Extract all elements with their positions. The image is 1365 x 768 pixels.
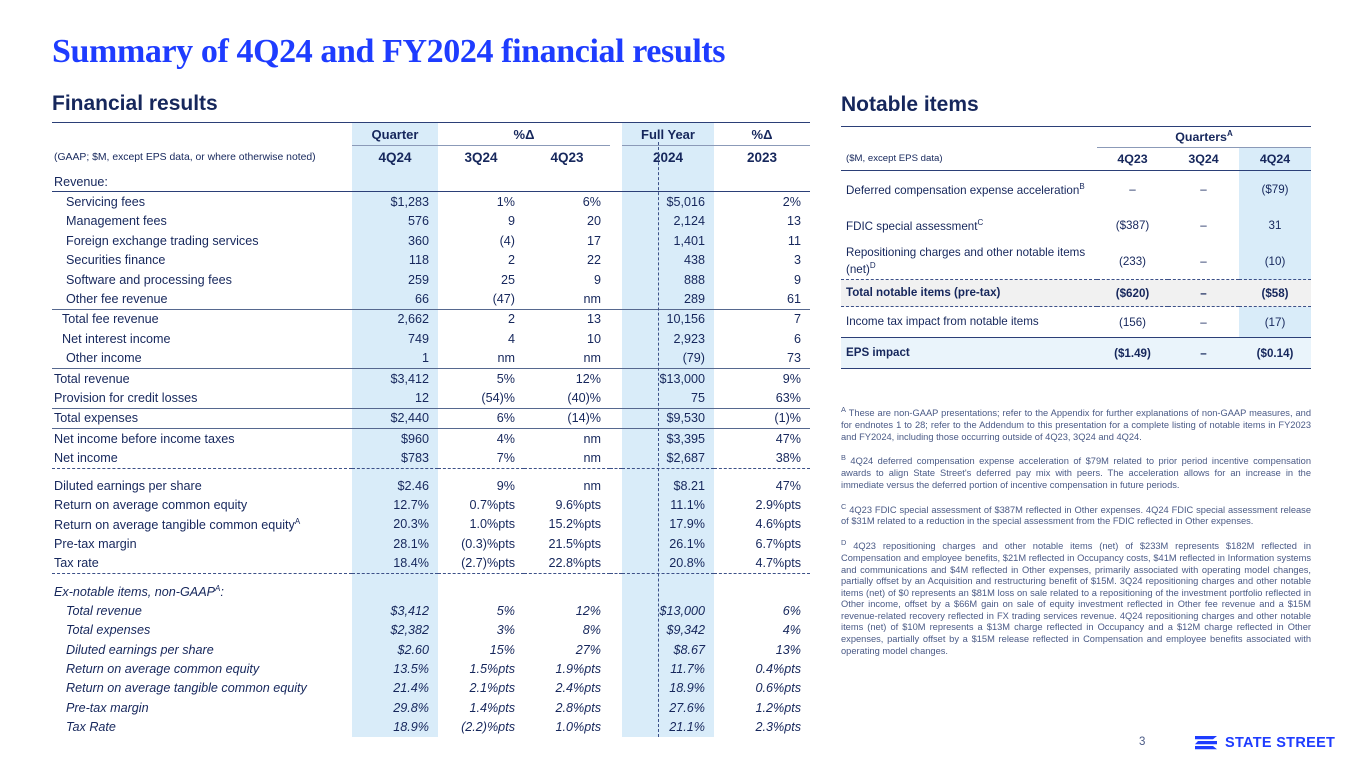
table-cell: 5% [438,601,524,620]
column-header-3Q24: 3Q24 [1168,148,1239,171]
table-row: Provision for credit losses12(54)%(40)%7… [52,388,810,408]
table-cell: – [1097,171,1168,208]
table-cell [714,169,810,192]
column-gap [610,718,622,737]
column-header-4Q24: 4Q24 [1239,148,1311,171]
table-row: Net income before income taxes$9604%nm$3… [52,429,810,449]
table-cell: 9% [714,368,810,388]
column-gap [610,553,622,573]
table-cell: ($1.49) [1097,338,1168,369]
row-label: Total revenue [52,601,352,620]
table-cell: 360 [352,231,438,250]
table-header-periods: ($M, except EPS data)4Q233Q244Q24 [841,148,1311,171]
table-cell: 888 [622,270,714,289]
table-row: Return on average common equity12.7%0.7%… [52,495,810,514]
table-cell: 26.1% [622,534,714,553]
table-cell: $8.21 [622,468,714,495]
table-cell: 576 [352,212,438,231]
row-label: Diluted earnings per share [52,468,352,495]
column-gap [610,515,622,534]
table-cell: 31 [1239,207,1311,243]
table-cell: (54)% [438,388,524,408]
table-row: Securities finance1182224383 [52,251,810,270]
table-cell: – [1168,207,1239,243]
footnote-marker: D [841,538,846,547]
group-header-delta-year: %Δ [714,123,810,146]
table-cell: 2% [714,192,810,212]
table-cell: 15.2%pts [524,515,610,534]
notable-items-table-wrap: QuartersA($M, except EPS data)4Q233Q244Q… [841,126,1311,369]
table-cell: 8% [524,621,610,640]
table-cell: 3% [438,621,524,640]
table-cell: 9.6%pts [524,495,610,514]
table-row: Diluted earnings per share$2.6015%27%$8.… [52,640,810,659]
row-label: Management fees [52,212,352,231]
table-cell: 22 [524,251,610,270]
table-cell: 1.0%pts [438,515,524,534]
column-gap [610,640,622,659]
table-cell: $2.60 [352,640,438,659]
table-cell: 9 [714,270,810,289]
footnote-marker: A [1227,129,1233,138]
table-cell: $13,000 [622,601,714,620]
table-cell: 27% [524,640,610,659]
table-cell: 75 [622,388,714,408]
group-header-quarter: Quarter [352,123,438,146]
row-label: Total fee revenue [52,309,352,329]
table-cell: 11.7% [622,659,714,678]
table-cell: 20 [524,212,610,231]
table-cell: 2 [438,309,524,329]
table-cell: 12% [524,368,610,388]
table-cell: 438 [622,251,714,270]
row-label: Securities finance [52,251,352,270]
footnote-marker: D [870,261,876,270]
column-gap [610,573,622,601]
table-row: Total expenses$2,3823%8%$9,3424% [52,621,810,640]
column-gap [610,192,622,212]
table-cell: 9% [438,468,524,495]
column-header-4Q23: 4Q23 [524,146,610,170]
table-cell: 21.5%pts [524,534,610,553]
column-gap [610,698,622,717]
column-gap [610,495,622,514]
table-cell: 20.8% [622,553,714,573]
table-cell [352,169,438,192]
table-cell: $2,382 [352,621,438,640]
table-cell: (17) [1239,307,1311,338]
table-cell: 13% [714,640,810,659]
table-cell: 10,156 [622,309,714,329]
table-cell [352,573,438,601]
table-cell: 12% [524,601,610,620]
table-cell: (79) [622,349,714,369]
table-cell: 28.1% [352,534,438,553]
table-cell: 20.3% [352,515,438,534]
row-label: Repositioning charges and other notable … [841,243,1097,280]
row-label: Other fee revenue [52,289,352,309]
financial-results-table-wrap: Quarter%ΔFull Year%Δ(GAAP; $M, except EP… [52,122,810,737]
column-gap [610,289,622,309]
table-cell: $9,342 [622,621,714,640]
table-row: Income tax impact from notable items(156… [841,307,1311,338]
table-row: Total fee revenue2,66221310,1567 [52,309,810,329]
footnote-marker: B [1079,182,1084,191]
table-cell: 17 [524,231,610,250]
table-cell: nm [438,349,524,369]
table-cell: 3 [714,251,810,270]
footnote-d: D 4Q23 repositioning charges and other n… [841,537,1311,657]
column-gap [610,349,622,369]
table-cell: 1.4%pts [438,698,524,717]
footnote-marker: C [977,218,983,227]
column-header-3Q24: 3Q24 [438,146,524,170]
table-row: Diluted earnings per share$2.469%nm$8.21… [52,468,810,495]
table-cell [438,169,524,192]
table-cell: (156) [1097,307,1168,338]
column-gap [610,679,622,698]
table-cell: $9,530 [622,408,714,428]
table-cell: (233) [1097,243,1168,280]
table-cell: 2.9%pts [714,495,810,514]
table-units-note: ($M, except EPS data) [841,148,1097,171]
table-cell: (2.2)%pts [438,718,524,737]
table-cell: – [1168,307,1239,338]
slide: Summary of 4Q24 and FY2024 financial res… [0,0,1365,768]
table-cell: 29.8% [352,698,438,717]
table-cell: 2.4%pts [524,679,610,698]
footnote-c: C 4Q23 FDIC special assessment of $387M … [841,501,1311,528]
footnote-marker: A [215,584,220,593]
table-cell: 2,923 [622,329,714,348]
row-label: Tax rate [52,553,352,573]
table-cell: (4) [438,231,524,250]
table-cell [524,169,610,192]
table-row: Return on average tangible common equity… [52,515,810,534]
table-cell: (1)% [714,408,810,428]
table-cell: 2,124 [622,212,714,231]
column-gap [610,123,622,146]
table-cell: 18.9% [352,718,438,737]
table-cell: 38% [714,448,810,468]
spacer [52,123,352,146]
column-gap [610,270,622,289]
table-row: FDIC special assessmentC($387)–31 [841,207,1311,243]
footnote-marker: A [295,517,300,526]
table-cell: 2.8%pts [524,698,610,717]
row-label: Tax Rate [52,718,352,737]
row-label: Other income [52,349,352,369]
footnote-a: A These are non-GAAP presentations; refe… [841,404,1311,443]
table-cell: 11.1% [622,495,714,514]
row-label: Income tax impact from notable items [841,307,1097,338]
column-header-2023: 2023 [714,146,810,170]
table-cell: $13,000 [622,368,714,388]
table-row: Repositioning charges and other notable … [841,243,1311,280]
row-label: Net income [52,448,352,468]
table-total-row: Total notable items (pre-tax)($620)–($58… [841,280,1311,307]
table-cell: $8.67 [622,640,714,659]
column-gap [610,601,622,620]
column-header-2024: 2024 [622,146,714,170]
table-cell: nm [524,429,610,449]
table-cell: 6 [714,329,810,348]
column-gap [610,212,622,231]
table-cell: 289 [622,289,714,309]
financial-results-heading: Financial results [52,92,218,116]
table-row: Total revenue$3,4125%12%$13,0006% [52,601,810,620]
column-gap [610,388,622,408]
table-cell: $783 [352,448,438,468]
spacer [841,127,1097,148]
table-cell: 2.3%pts [714,718,810,737]
table-cell: 1,401 [622,231,714,250]
table-cell: $3,395 [622,429,714,449]
table-cell [438,573,524,601]
table-row: Pre-tax margin28.1%(0.3)%pts21.5%pts26.1… [52,534,810,553]
table-cell: (2.7)%pts [438,553,524,573]
column-gap [610,169,622,192]
row-label: Net income before income taxes [52,429,352,449]
table-row: Net income$7837%nm$2,68738% [52,448,810,468]
table-cell: 22.8%pts [524,553,610,573]
row-label: Total revenue [52,368,352,388]
table-cell: 6% [524,192,610,212]
table-cell: nm [524,448,610,468]
row-label: EPS impact [841,338,1097,369]
table-row: Other income1nmnm(79)73 [52,349,810,369]
group-header-full-year: Full Year [622,123,714,146]
table-cell [524,573,610,601]
column-header-4Q24: 4Q24 [352,146,438,170]
table-cell: 1.9%pts [524,659,610,678]
section-title-ex-notable: Ex-notable items, non-GAAPA: [52,573,352,601]
table-section-title-row: Ex-notable items, non-GAAPA: [52,573,810,601]
table-cell: 73 [714,349,810,369]
table-row: Return on average tangible common equity… [52,679,810,698]
table-cell: $1,283 [352,192,438,212]
table-cell: 6% [714,601,810,620]
table-section-title-row: Revenue: [52,169,810,192]
column-gap [610,309,622,329]
table-cell: 9 [524,270,610,289]
row-label: Return on average tangible common equity [52,679,352,698]
table-cell: 12.7% [352,495,438,514]
group-header-delta-quarter: %Δ [438,123,610,146]
table-cell: ($0.14) [1239,338,1311,369]
footnote-marker: A [841,405,846,414]
column-gap [610,621,622,640]
table-cell: 7% [438,448,524,468]
column-gap [610,329,622,348]
state-street-logo: STATE STREET [1193,733,1335,752]
column-gap [610,659,622,678]
table-cell [714,573,810,601]
page-number: 3 [1139,736,1145,748]
row-label: Return on average common equity [52,659,352,678]
table-cell: 18.4% [352,553,438,573]
column-gap [610,231,622,250]
table-cell: 4.6%pts [714,515,810,534]
table-cell: 21.1% [622,718,714,737]
row-label: Net interest income [52,329,352,348]
row-label: Deferred compensation expense accelerati… [841,171,1097,208]
page-title: Summary of 4Q24 and FY2024 financial res… [52,33,725,71]
table-cell: 4% [438,429,524,449]
table-cell: 17.9% [622,515,714,534]
table-cell: 6.7%pts [714,534,810,553]
table-cell: 47% [714,429,810,449]
table-cell: (14)% [524,408,610,428]
table-cell: 9 [438,212,524,231]
table-row: Net interest income7494102,9236 [52,329,810,348]
notable-items-table: QuartersA($M, except EPS data)4Q233Q244Q… [841,126,1311,369]
table-cell: 118 [352,251,438,270]
table-row: Tax rate18.4%(2.7)%pts22.8%pts20.8%4.7%p… [52,553,810,573]
table-cell: 4% [714,621,810,640]
row-label: Total notable items (pre-tax) [841,280,1097,307]
table-row: Pre-tax margin29.8%1.4%pts2.8%pts27.6%1.… [52,698,810,717]
row-label: Total expenses [52,621,352,640]
table-cell: ($387) [1097,207,1168,243]
table-cell: 2,662 [352,309,438,329]
column-gap [610,534,622,553]
brand-name: STATE STREET [1225,735,1335,751]
column-header-4Q23: 4Q23 [1097,148,1168,171]
column-gap [610,408,622,428]
table-cell: – [1168,338,1239,369]
table-cell: ($620) [1097,280,1168,307]
table-cell: nm [524,349,610,369]
table-cell: 27.6% [622,698,714,717]
table-cell: – [1168,280,1239,307]
row-label: FDIC special assessmentC [841,207,1097,243]
table-cell: 1.0%pts [524,718,610,737]
table-row: Servicing fees$1,2831%6%$5,0162% [52,192,810,212]
table-cell: 1 [352,349,438,369]
state-street-mark-icon [1193,733,1219,752]
row-label: Diluted earnings per share [52,640,352,659]
table-cell: $5,016 [622,192,714,212]
table-cell: 4.7%pts [714,553,810,573]
column-group-divider [658,142,659,737]
section-title-revenue: Revenue: [52,169,352,192]
table-row: Deferred compensation expense accelerati… [841,171,1311,208]
table-cell: – [1168,243,1239,280]
financial-results-table: Quarter%ΔFull Year%Δ(GAAP; $M, except EP… [52,122,810,737]
table-cell: nm [524,468,610,495]
table-cell: $3,412 [352,368,438,388]
table-cell: ($79) [1239,171,1311,208]
table-header-groups: Quarter%ΔFull Year%Δ [52,123,810,146]
table-cell: 61 [714,289,810,309]
table-cell: 0.7%pts [438,495,524,514]
table-cell: 0.6%pts [714,679,810,698]
column-gap [610,468,622,495]
table-cell: 10 [524,329,610,348]
row-label: Software and processing fees [52,270,352,289]
footnote-marker: C [841,502,846,511]
table-cell: 15% [438,640,524,659]
column-gap [610,429,622,449]
table-cell: $2,687 [622,448,714,468]
table-cell: 2 [438,251,524,270]
column-gap [610,448,622,468]
table-units-note: (GAAP; $M, except EPS data, or where oth… [52,146,352,170]
table-cell: 259 [352,270,438,289]
row-label: Return on average common equity [52,495,352,514]
table-cell: (10) [1239,243,1311,280]
table-cell: 25 [438,270,524,289]
group-header-quarters: QuartersA [1097,127,1311,148]
table-cell: (47) [438,289,524,309]
table-cell: 13 [714,212,810,231]
table-cell: 1.5%pts [438,659,524,678]
table-cell: (0.3)%pts [438,534,524,553]
row-label: Pre-tax margin [52,534,352,553]
table-cell: $2,440 [352,408,438,428]
table-row: Return on average common equity13.5%1.5%… [52,659,810,678]
table-cell: – [1168,171,1239,208]
table-row: Total expenses$2,4406%(14)%$9,530(1)% [52,408,810,428]
table-header-periods: (GAAP; $M, except EPS data, or where oth… [52,146,810,170]
table-eps-row: EPS impact($1.49)–($0.14) [841,338,1311,369]
table-row: Foreign exchange trading services360(4)1… [52,231,810,250]
table-row: Management fees5769202,12413 [52,212,810,231]
table-cell: 1.2%pts [714,698,810,717]
footnote-b: B 4Q24 deferred compensation expense acc… [841,452,1311,491]
column-gap [610,251,622,270]
footnote-marker: B [841,453,846,462]
table-cell: 11 [714,231,810,250]
table-row: Software and processing fees2592598889 [52,270,810,289]
table-row: Other fee revenue66(47)nm28961 [52,289,810,309]
table-cell: 7 [714,309,810,329]
table-header-groups: QuartersA [841,127,1311,148]
table-cell: 21.4% [352,679,438,698]
table-cell: 6% [438,408,524,428]
table-cell: (40)% [524,388,610,408]
row-label: Return on average tangible common equity… [52,515,352,534]
table-cell: nm [524,289,610,309]
table-cell: $3,412 [352,601,438,620]
table-cell: 13 [524,309,610,329]
column-gap [610,368,622,388]
row-label: Total expenses [52,408,352,428]
row-label: Pre-tax margin [52,698,352,717]
table-cell: 749 [352,329,438,348]
table-cell [622,169,714,192]
row-label: Servicing fees [52,192,352,212]
table-row: Tax Rate18.9%(2.2)%pts1.0%pts21.1%2.3%pt… [52,718,810,737]
table-cell: 63% [714,388,810,408]
table-cell: ($58) [1239,280,1311,307]
table-cell: 0.4%pts [714,659,810,678]
table-cell: 18.9% [622,679,714,698]
row-label: Provision for credit losses [52,388,352,408]
table-cell: $2.46 [352,468,438,495]
table-cell: 12 [352,388,438,408]
table-cell: 66 [352,289,438,309]
table-cell: 47% [714,468,810,495]
footnotes: A These are non-GAAP presentations; refe… [841,395,1311,666]
table-cell: $960 [352,429,438,449]
table-cell: 1% [438,192,524,212]
table-cell: 13.5% [352,659,438,678]
row-label: Foreign exchange trading services [52,231,352,250]
table-cell: 2.1%pts [438,679,524,698]
table-row: Total revenue$3,4125%12%$13,0009% [52,368,810,388]
